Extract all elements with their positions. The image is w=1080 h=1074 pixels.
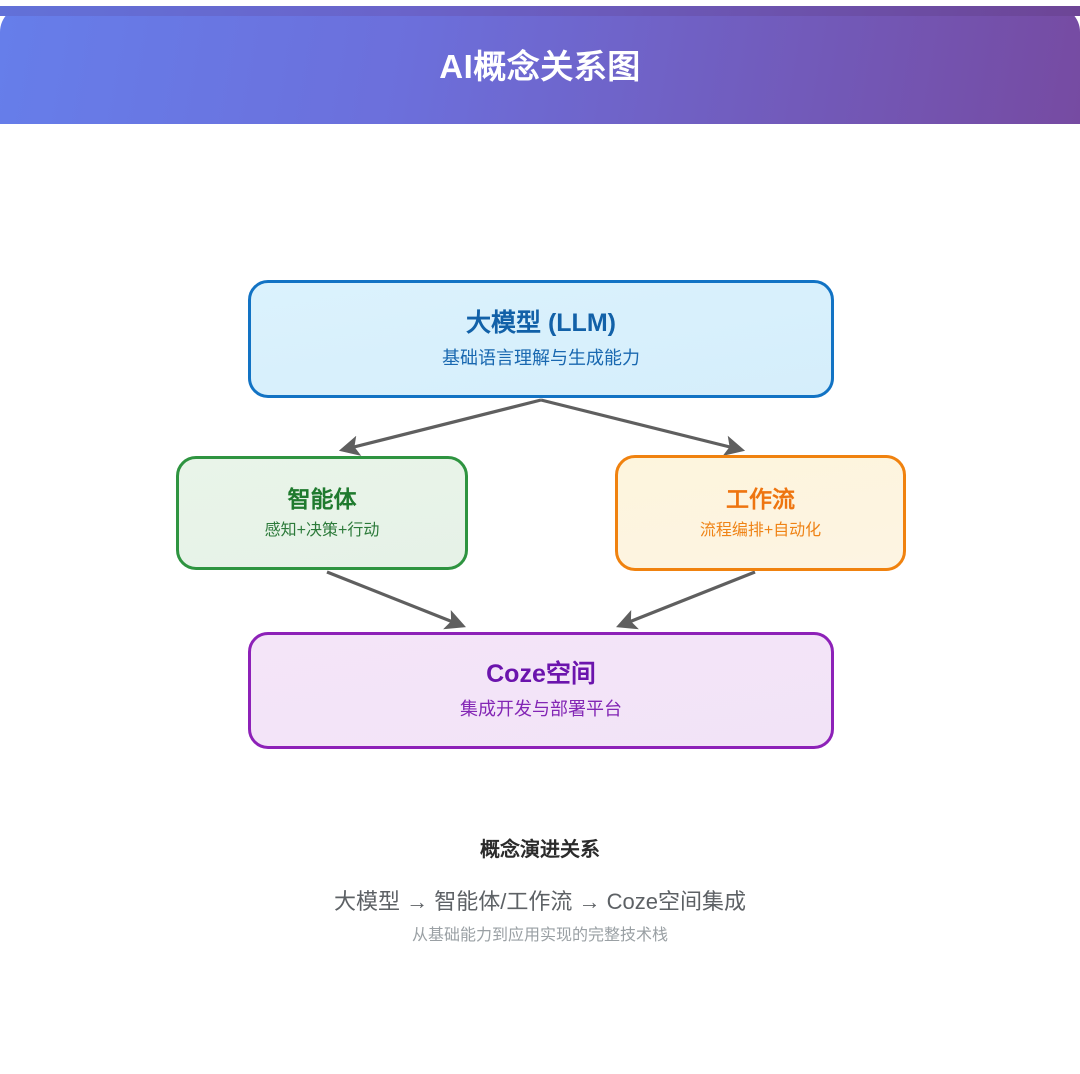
diagram-canvas: 大模型 (LLM) 基础语言理解与生成能力 智能体 感知+决策+行动 工作流 流… [0, 124, 1080, 824]
node-agent-title: 智能体 [288, 486, 357, 512]
node-coze-subtitle: 集成开发与部署平台 [460, 699, 622, 721]
header-top-strip [0, 6, 1080, 16]
node-llm-title: 大模型 (LLM) [466, 309, 616, 338]
page-header: AI概念关系图 [0, 6, 1080, 124]
page-title: AI概念关系图 [439, 48, 641, 83]
summary-section: 概念演进关系 大模型 → 智能体/工作流 → Coze空间集成 从基础能力到应用… [0, 838, 1080, 946]
node-coze[interactable]: Coze空间 集成开发与部署平台 [248, 632, 834, 749]
summary-title: 概念演进关系 [0, 838, 1080, 862]
node-agent[interactable]: 智能体 感知+决策+行动 [176, 456, 468, 570]
node-workflow-title: 工作流 [726, 486, 795, 512]
node-llm[interactable]: 大模型 (LLM) 基础语言理解与生成能力 [248, 280, 834, 398]
node-workflow-subtitle: 流程编排+自动化 [700, 521, 821, 540]
node-agent-subtitle: 感知+决策+行动 [265, 521, 380, 540]
edge-agent-to-coze [327, 572, 463, 626]
summary-note-text: 从基础能力到应用实现的完整技术栈 [0, 926, 1080, 946]
edge-workflow-to-coze [619, 572, 755, 626]
edge-llm-to-agent [342, 400, 541, 450]
edge-llm-to-workflow [541, 400, 742, 450]
node-llm-subtitle: 基础语言理解与生成能力 [442, 348, 640, 370]
summary-flow-text: 大模型 → 智能体/工作流 → Coze空间集成 [0, 888, 1080, 916]
node-coze-title: Coze空间 [486, 660, 596, 689]
node-workflow[interactable]: 工作流 流程编排+自动化 [615, 455, 906, 571]
